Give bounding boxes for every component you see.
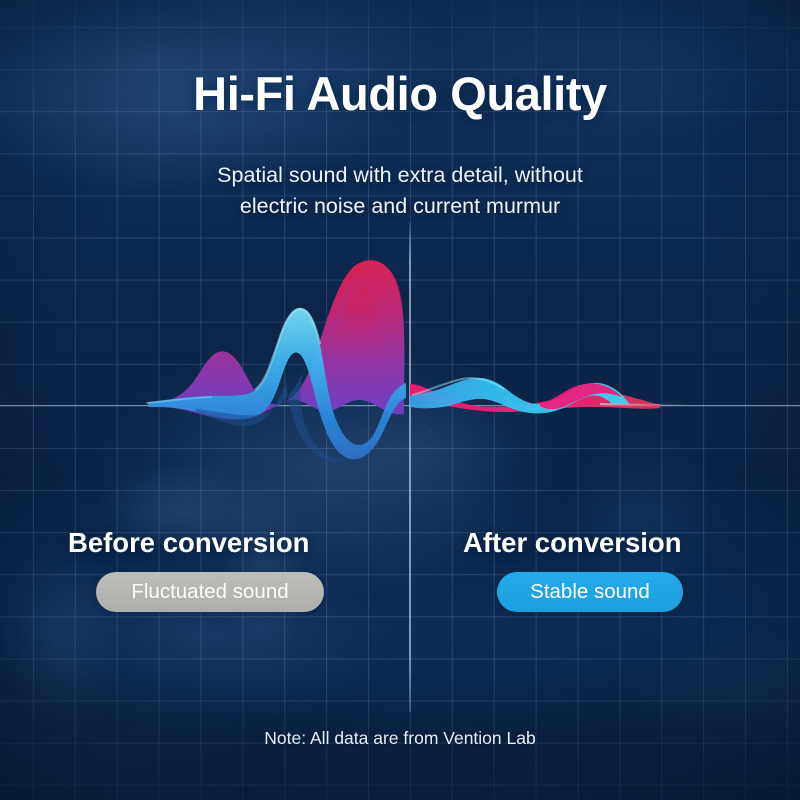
footer-note: Note: All data are from Vention Lab <box>0 728 800 749</box>
after-conversion-heading: After conversion <box>463 527 682 559</box>
poster-canvas: Hi-Fi Audio Quality Spatial sound with e… <box>0 0 800 800</box>
wave-after-tail <box>600 404 690 405</box>
subtitle-line-1: Spatial sound with extra detail, without <box>0 160 800 191</box>
status-badge-stable-sound: Stable sound <box>497 572 683 612</box>
status-badge-fluctuated-sound: Fluctuated sound <box>96 572 324 612</box>
page-subtitle: Spatial sound with extra detail, without… <box>0 160 800 222</box>
before-conversion-heading: Before conversion <box>68 527 309 559</box>
subtitle-line-2: electric noise and current murmur <box>0 191 800 222</box>
waveform-after-group <box>410 378 690 413</box>
page-title: Hi-Fi Audio Quality <box>0 66 800 121</box>
waveform-before-group <box>146 260 406 461</box>
wave-after-cyan <box>410 378 630 413</box>
